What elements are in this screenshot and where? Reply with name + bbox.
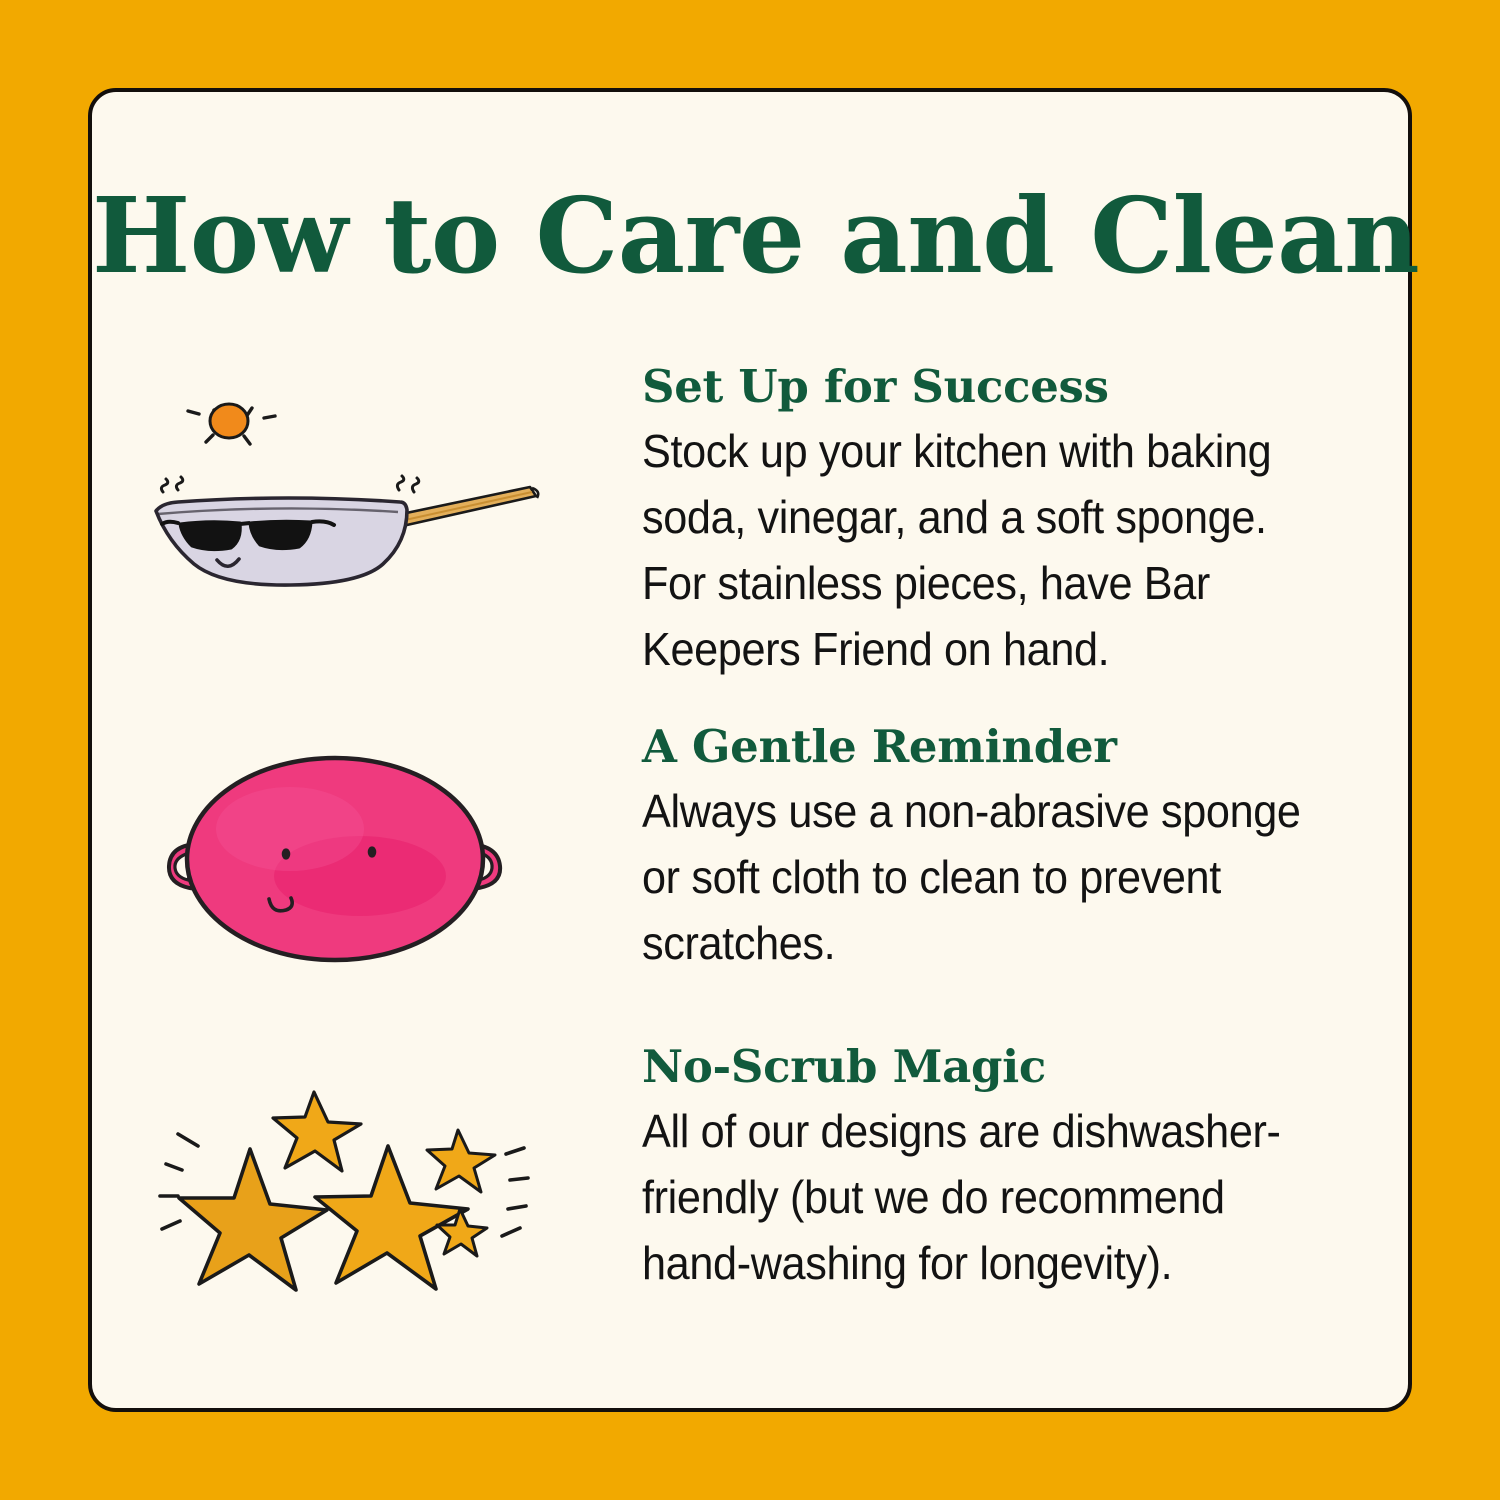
stars-svg	[140, 1064, 560, 1294]
text-column: No-Scrub Magic All of our designs are di…	[642, 1044, 1376, 1296]
section-heading-a-gentle-reminder: A Gentle Reminder	[642, 724, 1376, 769]
section-body-no-scrub-magic: All of our designs are dishwasher-friend…	[642, 1098, 1332, 1296]
section-heading-set-up-for-success: Set Up for Success	[642, 364, 1376, 409]
pink-pot-svg	[150, 734, 540, 984]
pink-oval-pot-with-face-icon	[150, 734, 540, 984]
illustration-column	[132, 364, 642, 624]
care-section-no-scrub-magic: No-Scrub Magic All of our designs are di…	[132, 1044, 1376, 1304]
care-and-clean-card: How to Care and Clean	[88, 88, 1412, 1412]
text-column: Set Up for Success Stock up your kitchen…	[642, 364, 1376, 682]
illustration-column	[132, 1044, 642, 1304]
care-section-set-up-for-success: Set Up for Success Stock up your kitchen…	[132, 364, 1376, 682]
care-section-a-gentle-reminder: A Gentle Reminder Always use a non-abras…	[132, 724, 1376, 984]
illustration-column	[132, 724, 642, 984]
frying-pan-svg	[142, 364, 562, 614]
frying-pan-with-sunglasses-and-sun-icon	[142, 364, 562, 614]
poster-canvas: How to Care and Clean	[0, 0, 1500, 1500]
section-body-a-gentle-reminder: Always use a non-abrasive sponge or soft…	[642, 778, 1332, 976]
sparkling-gold-stars-icon	[140, 1064, 560, 1294]
page-title: How to Care and Clean	[92, 184, 1408, 288]
section-heading-no-scrub-magic: No-Scrub Magic	[642, 1044, 1376, 1089]
section-body-set-up-for-success: Stock up your kitchen with baking soda, …	[642, 418, 1332, 682]
text-column: A Gentle Reminder Always use a non-abras…	[642, 724, 1376, 976]
